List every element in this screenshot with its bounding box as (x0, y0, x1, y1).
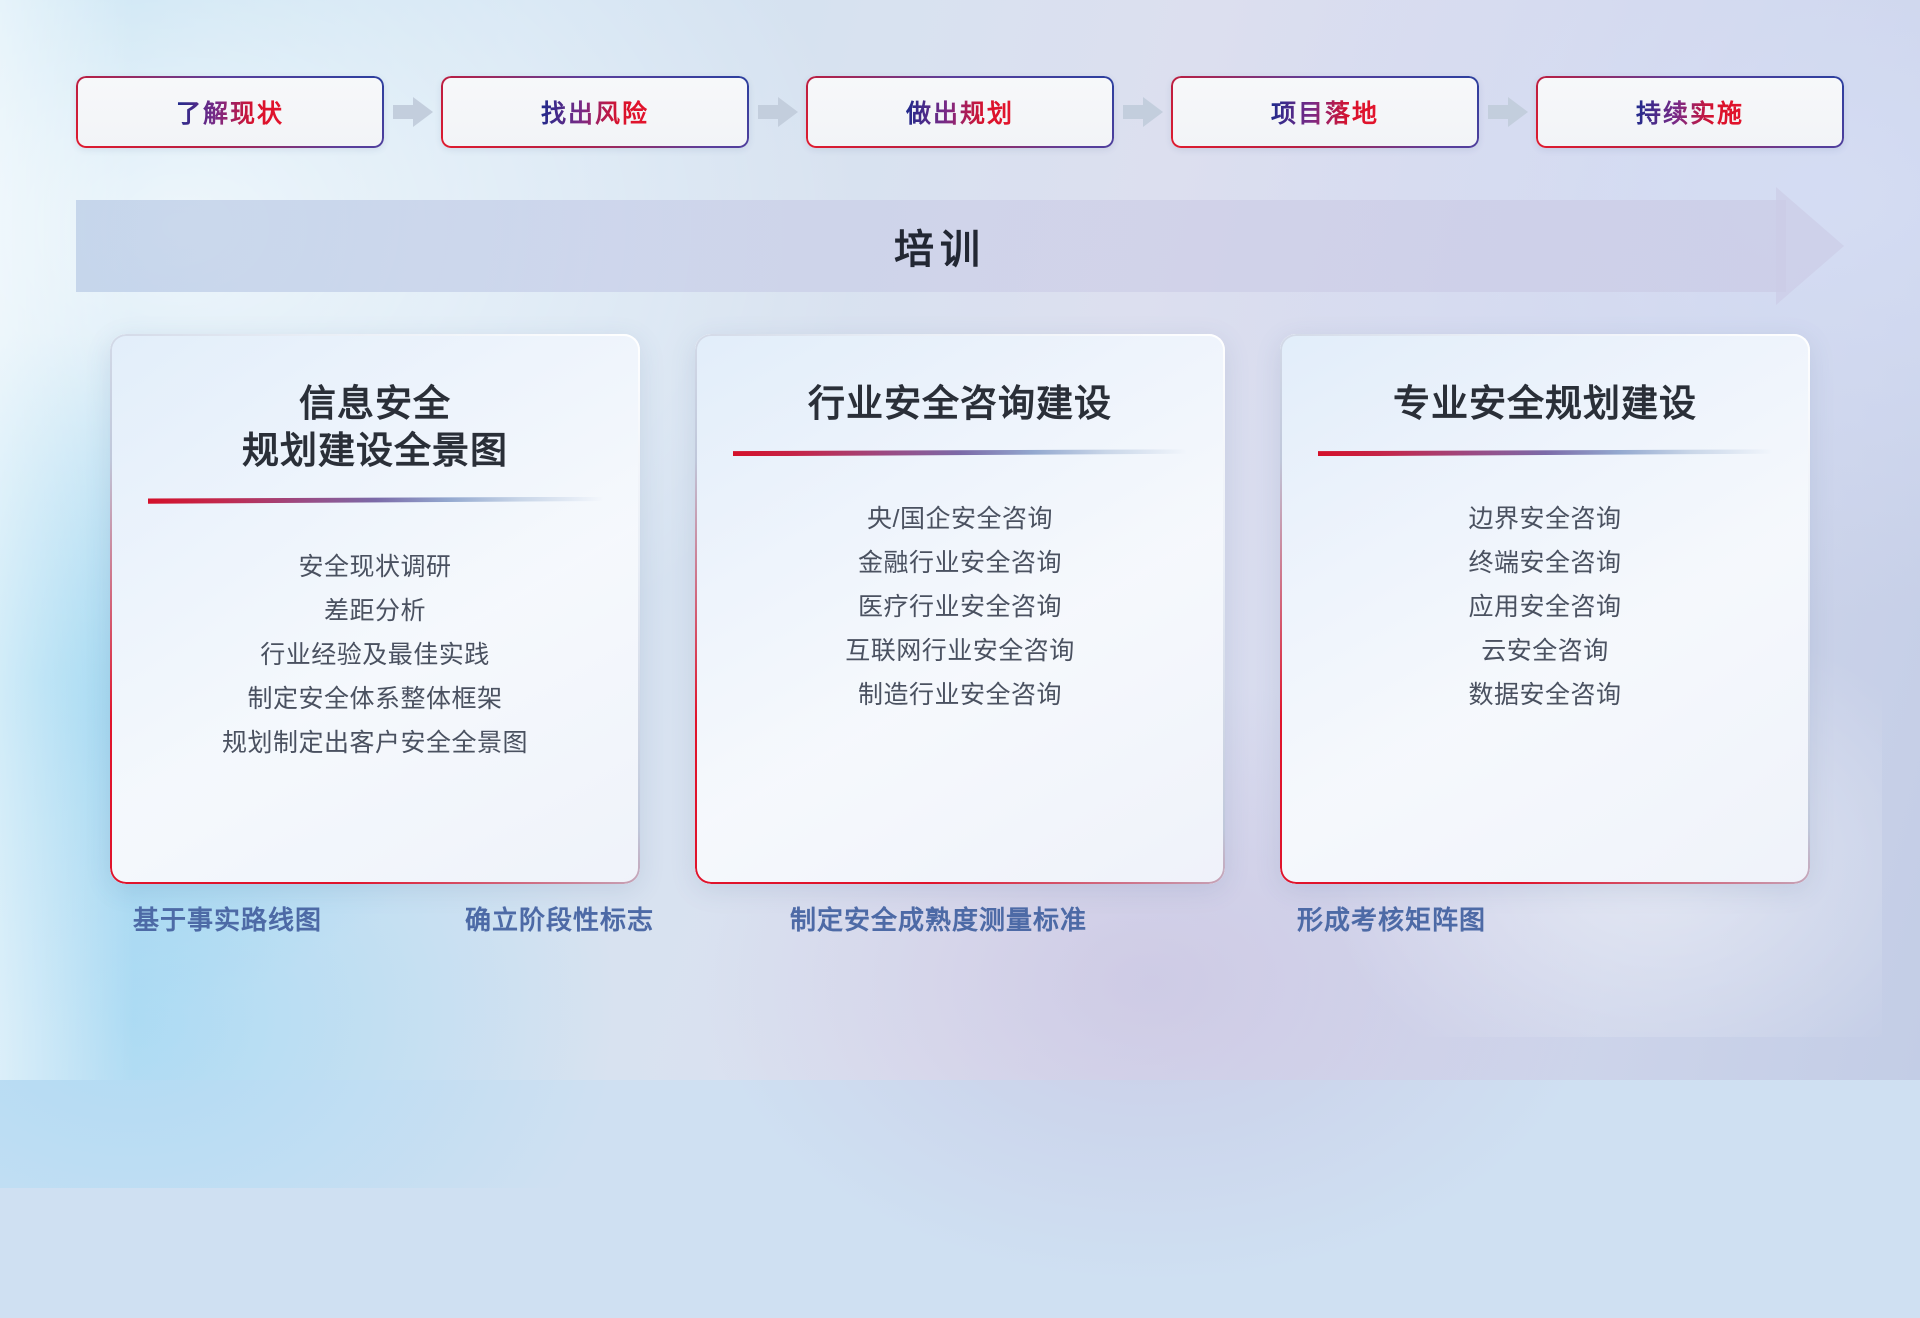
caption-matrix: 形成考核矩阵图 (1297, 900, 1486, 937)
list-item: 央/国企安全咨询 (713, 498, 1207, 542)
process-arrow-2-icon (758, 97, 798, 127)
list-item: 安全现状调研 (128, 546, 622, 590)
list-item: 金融行业安全咨询 (713, 542, 1207, 586)
process-step-3-label: 做出规划 (906, 94, 1014, 130)
process-flow: 了解现状 找出风险 做出规划 项目落地 持续实施 (76, 76, 1844, 148)
card-professional-security-planning[interactable]: 专业安全规划建设 边界安全咨询 终端安全咨询 应用安全咨询 云安全咨询 数据安全… (1280, 334, 1810, 884)
slide-content: 了解现状 找出风险 做出规划 项目落地 持续实施 培训 信息安全 规划建设全景图 (0, 0, 1920, 1080)
caption-milestone: 确立阶段性标志 (465, 900, 654, 937)
card-1-list: 安全现状调研 差距分析 行业经验及最佳实践 制定安全体系整体框架 规划制定出客户… (110, 506, 640, 766)
list-item: 云安全咨询 (1298, 630, 1792, 674)
card-1-title: 信息安全 规划建设全景图 (110, 334, 640, 475)
process-step-3[interactable]: 做出规划 (806, 76, 1114, 148)
process-step-5-label: 持续实施 (1636, 94, 1744, 130)
process-step-5[interactable]: 持续实施 (1536, 76, 1844, 148)
training-banner-title: 培训 (76, 200, 1844, 292)
list-item: 行业经验及最佳实践 (128, 634, 622, 678)
process-step-4-label: 项目落地 (1271, 94, 1379, 130)
list-item: 应用安全咨询 (1298, 586, 1792, 630)
process-step-2-label: 找出风险 (541, 94, 649, 130)
caption-row: 基于事实路线图 确立阶段性标志 制定安全成熟度测量标准 形成考核矩阵图 (0, 900, 1920, 960)
card-1-divider (148, 497, 603, 506)
process-arrow-4-icon (1488, 97, 1528, 127)
card-3-divider (1318, 449, 1773, 458)
process-step-4[interactable]: 项目落地 (1171, 76, 1479, 148)
list-item: 制造行业安全咨询 (713, 674, 1207, 718)
card-3-title: 专业安全规划建设 (1280, 334, 1810, 427)
card-3-list: 边界安全咨询 终端安全咨询 应用安全咨询 云安全咨询 数据安全咨询 (1280, 458, 1810, 718)
card-2-divider (733, 449, 1188, 458)
list-item: 互联网行业安全咨询 (713, 630, 1207, 674)
training-banner: 培训 (76, 200, 1844, 292)
list-item: 边界安全咨询 (1298, 498, 1792, 542)
process-arrow-1-icon (393, 97, 433, 127)
card-industry-security-consulting[interactable]: 行业安全咨询建设 央/国企安全咨询 金融行业安全咨询 医疗行业安全咨询 互联网行… (695, 334, 1225, 884)
caption-roadmap: 基于事实路线图 (133, 900, 322, 937)
process-step-1[interactable]: 了解现状 (76, 76, 384, 148)
list-item: 终端安全咨询 (1298, 542, 1792, 586)
list-item: 差距分析 (128, 590, 622, 634)
card-2-title: 行业安全咨询建设 (695, 334, 1225, 427)
process-step-2[interactable]: 找出风险 (441, 76, 749, 148)
process-arrow-3-icon (1123, 97, 1163, 127)
card-information-security-panorama[interactable]: 信息安全 规划建设全景图 安全现状调研 差距分析 行业经验及最佳实践 制定安全体… (110, 334, 640, 884)
list-item: 医疗行业安全咨询 (713, 586, 1207, 630)
card-group: 信息安全 规划建设全景图 安全现状调研 差距分析 行业经验及最佳实践 制定安全体… (110, 334, 1810, 884)
process-step-1-label: 了解现状 (176, 94, 284, 130)
card-2-list: 央/国企安全咨询 金融行业安全咨询 医疗行业安全咨询 互联网行业安全咨询 制造行… (695, 458, 1225, 718)
list-item: 数据安全咨询 (1298, 674, 1792, 718)
caption-maturity: 制定安全成熟度测量标准 (790, 900, 1087, 937)
list-item: 规划制定出客户安全全景图 (128, 722, 622, 766)
list-item: 制定安全体系整体框架 (128, 678, 622, 722)
